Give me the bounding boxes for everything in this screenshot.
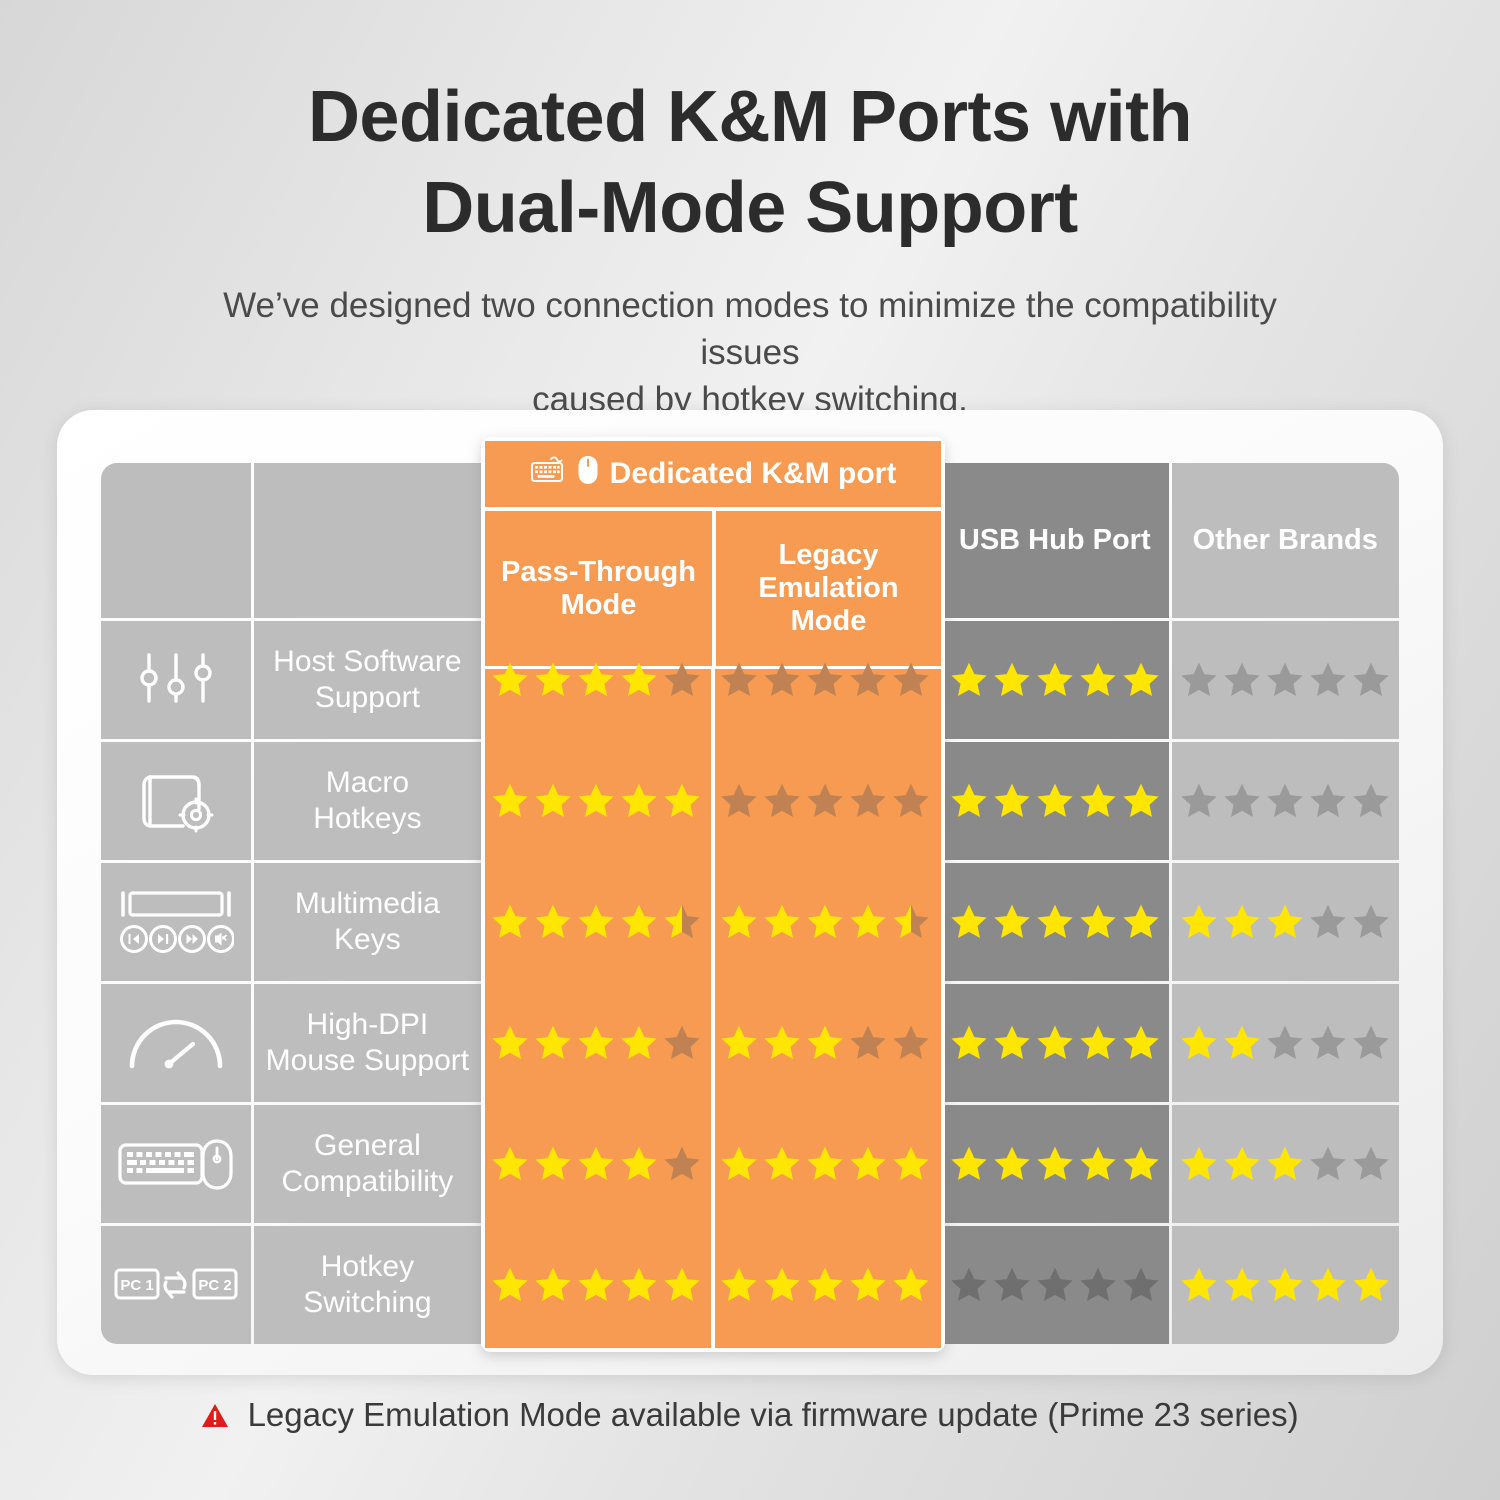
- table-row: PC 1 PC 2 HotkeySwitching: [101, 1226, 1399, 1344]
- row-feature-label-line2: Keys: [334, 923, 401, 956]
- rating-cell-legacy-emulation: [712, 1226, 938, 1344]
- pc-switch-icon: PC 1 PC 2: [101, 1226, 251, 1344]
- rating-cell-pass-through: [484, 742, 708, 860]
- row-icon-cell: [101, 1105, 251, 1223]
- table-row: MacroHotkeys: [101, 742, 1399, 860]
- warning-triangle-icon: [201, 1399, 229, 1437]
- row-feature-label-line2: Compatibility: [282, 1165, 454, 1198]
- stars-usb-hub: [949, 1144, 1161, 1184]
- rating-cell-other-brands: [1172, 621, 1399, 739]
- keyboard-icon: [530, 456, 566, 492]
- row-feature-label-line1: High-DPI: [307, 1008, 429, 1041]
- stars-usb-hub: [949, 1265, 1161, 1305]
- row-feature-label-line1: General: [314, 1129, 421, 1162]
- header-cell-icon: [101, 463, 251, 618]
- rating-cell-legacy-emulation: [712, 863, 938, 981]
- macro-gear-icon: [101, 742, 251, 860]
- row-feature-label: MultimediaKeys: [254, 863, 482, 981]
- rating-cell-other-brands: [1172, 1226, 1399, 1344]
- row-icon-cell: [101, 863, 251, 981]
- column-header-usb-hub-port: USB Hub Port: [941, 463, 1168, 618]
- rating-cell-usb-hub: [941, 863, 1168, 981]
- rating-cell-other-brands: [1172, 863, 1399, 981]
- row-feature-label: HotkeySwitching: [254, 1226, 482, 1344]
- stars-usb-hub: [949, 1023, 1161, 1063]
- row-feature-label-line2: Mouse Support: [266, 1044, 469, 1077]
- stars-other-brands: [1179, 902, 1391, 942]
- rating-cell-legacy-emulation: [712, 621, 938, 739]
- column-header-other-brands: Other Brands: [1172, 463, 1399, 618]
- row-feature-label: MacroHotkeys: [254, 742, 482, 860]
- rating-cell-legacy-emulation: [712, 984, 938, 1102]
- column-header-pass-through-label: Pass-Through Mode: [491, 556, 706, 622]
- rating-cell-pass-through: [484, 621, 708, 739]
- page-subtitle-line1: We’ve designed two connection modes to m…: [223, 286, 1277, 372]
- rating-cell-pass-through: [484, 863, 708, 981]
- stars-other-brands: [1179, 1023, 1391, 1063]
- row-feature-label-line2: Support: [315, 681, 420, 714]
- table-row: High-DPIMouse Support: [101, 984, 1399, 1102]
- row-feature-label: Host SoftwareSupport: [254, 621, 482, 739]
- stars-usb-hub: [949, 781, 1161, 821]
- row-icon-cell: [101, 742, 251, 860]
- row-feature-label-line2: Switching: [303, 1286, 431, 1319]
- svg-text:PC 1: PC 1: [120, 1277, 153, 1294]
- table-row: MultimediaKeys: [101, 863, 1399, 981]
- footer-note-text: Legacy Emulation Mode available via firm…: [248, 1396, 1299, 1433]
- rating-cell-other-brands: [1172, 742, 1399, 860]
- row-icon-cell: [101, 621, 251, 739]
- stars-other-brands: [1179, 1144, 1391, 1184]
- sliders-icon: [101, 621, 251, 739]
- table-row: Host SoftwareSupport: [101, 621, 1399, 739]
- multimedia-keys-icon: [101, 863, 251, 981]
- stars-usb-hub: [949, 902, 1161, 942]
- rating-cell-legacy-emulation: [712, 742, 938, 860]
- page-header: Dedicated K&M Ports with Dual-Mode Suppo…: [0, 0, 1500, 423]
- footer-note: Legacy Emulation Mode available via firm…: [0, 1396, 1500, 1437]
- stars-usb-hub: [949, 660, 1161, 700]
- row-icon-cell: [101, 984, 251, 1102]
- mouse-icon: [577, 455, 599, 493]
- page-title: Dedicated K&M Ports with Dual-Mode Suppo…: [150, 72, 1350, 253]
- stars-other-brands: [1179, 781, 1391, 821]
- table-row: GeneralCompatibility: [101, 1105, 1399, 1223]
- rating-cell-pass-through: [484, 1226, 708, 1344]
- rating-cell-usb-hub: [941, 742, 1168, 860]
- row-feature-label-line1: Macro: [326, 766, 409, 799]
- row-feature-label-line1: Host Software: [273, 645, 461, 678]
- rating-cell-usb-hub: [941, 1105, 1168, 1223]
- row-feature-label-line2: Hotkeys: [313, 802, 421, 835]
- page-title-line1: Dedicated K&M Ports with: [308, 77, 1192, 157]
- rating-cell-legacy-emulation: [712, 1105, 938, 1223]
- row-feature-label: GeneralCompatibility: [254, 1105, 482, 1223]
- svg-text:PC 2: PC 2: [198, 1277, 231, 1294]
- stars-other-brands: [1179, 1265, 1391, 1305]
- row-feature-label-line1: Hotkey: [321, 1250, 414, 1283]
- header-cell-feature: [254, 463, 481, 618]
- speedometer-icon: [101, 984, 251, 1102]
- page-subtitle: We’ve designed two connection modes to m…: [190, 283, 1310, 423]
- stars-other-brands: [1179, 660, 1391, 700]
- rating-cell-other-brands: [1172, 984, 1399, 1102]
- rating-cell-usb-hub: [941, 984, 1168, 1102]
- dedicated-km-port-label: Dedicated K&M port: [610, 457, 897, 491]
- rating-cell-other-brands: [1172, 1105, 1399, 1223]
- rating-cell-usb-hub: [941, 621, 1168, 739]
- rating-cell-pass-through: [484, 1105, 708, 1223]
- row-icon-cell: PC 1 PC 2: [101, 1226, 251, 1344]
- page-title-line2: Dual-Mode Support: [422, 168, 1077, 248]
- rating-cell-usb-hub: [941, 1226, 1168, 1344]
- rating-cell-pass-through: [484, 984, 708, 1102]
- row-feature-label-line1: Multimedia: [295, 887, 440, 920]
- keyboard-mouse-icon: [101, 1105, 251, 1223]
- dedicated-km-port-header: Dedicated K&M port: [485, 441, 941, 507]
- row-feature-label: High-DPIMouse Support: [254, 984, 482, 1102]
